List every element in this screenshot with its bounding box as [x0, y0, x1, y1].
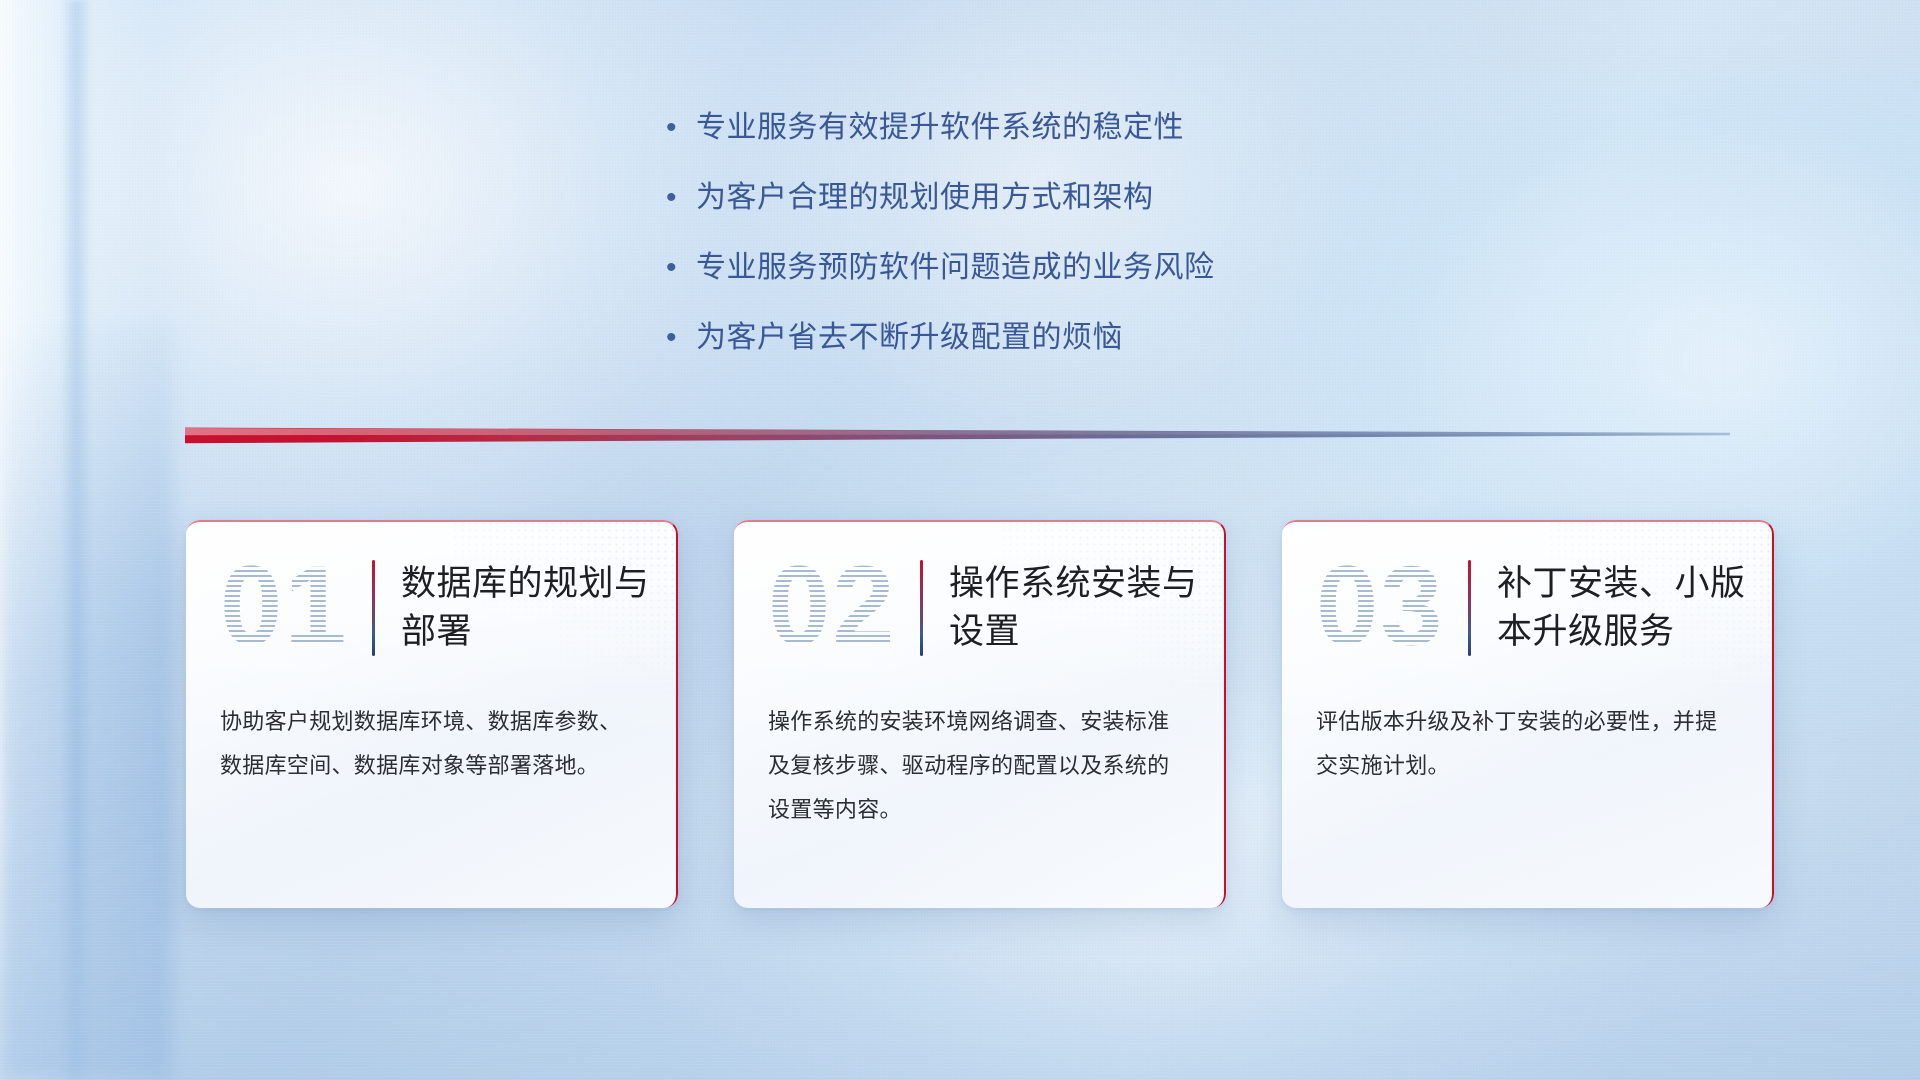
card-title: 补丁安装、小版本升级服务 — [1497, 560, 1748, 656]
bullet-dot-icon: • — [660, 108, 696, 148]
card-divider-rule — [1468, 560, 1471, 656]
card-description: 操作系统的安装环境网络调查、安装标准及复核步骤、驱动程序的配置以及系统的设置等内… — [734, 696, 1226, 832]
bullet-text: 专业服务预防软件问题造成的业务风险 — [696, 248, 1215, 288]
bullet-text: 为客户合理的规划使用方式和架构 — [696, 178, 1154, 218]
service-card-01[interactable]: 01 数据库的规划与部署 协助客户规划数据库环境、数据库参数、数据库空间、数据库… — [186, 520, 678, 908]
service-card-row: 01 数据库的规划与部署 协助客户规划数据库环境、数据库参数、数据库空间、数据库… — [186, 520, 1776, 908]
card-description: 协助客户规划数据库环境、数据库参数、数据库空间、数据库对象等部署落地。 — [186, 696, 678, 788]
card-number: 02 — [768, 550, 916, 662]
card-header: 01 数据库的规划与部署 — [186, 520, 678, 696]
card-divider-rule — [920, 560, 923, 656]
card-title: 数据库的规划与部署 — [401, 560, 652, 656]
list-item: • 专业服务预防软件问题造成的业务风险 — [660, 248, 1420, 288]
list-item: • 为客户合理的规划使用方式和架构 — [660, 178, 1420, 218]
bullet-dot-icon: • — [660, 178, 696, 218]
service-card-03[interactable]: 03 补丁安装、小版本升级服务 评估版本升级及补丁安装的必要性，并提交实施计划。 — [1282, 520, 1774, 908]
bullet-text: 专业服务有效提升软件系统的稳定性 — [696, 108, 1184, 148]
list-item: • 专业服务有效提升软件系统的稳定性 — [660, 108, 1420, 148]
bullet-dot-icon: • — [660, 318, 696, 358]
card-header: 02 操作系统安装与设置 — [734, 520, 1226, 696]
card-number: 03 — [1316, 550, 1464, 662]
service-card-02[interactable]: 02 操作系统安装与设置 操作系统的安装环境网络调查、安装标准及复核步骤、驱动程… — [734, 520, 1226, 908]
section-divider — [185, 424, 1730, 444]
card-description: 评估版本升级及补丁安装的必要性，并提交实施计划。 — [1282, 696, 1774, 788]
card-title: 操作系统安装与设置 — [949, 560, 1200, 656]
card-divider-rule — [372, 560, 375, 656]
list-item: • 为客户省去不断升级配置的烦恼 — [660, 318, 1420, 358]
card-header: 03 补丁安装、小版本升级服务 — [1282, 520, 1774, 696]
bullet-dot-icon: • — [660, 248, 696, 288]
bullet-text: 为客户省去不断升级配置的烦恼 — [696, 318, 1123, 358]
card-number: 01 — [220, 550, 368, 662]
slide-canvas: • 专业服务有效提升软件系统的稳定性 • 为客户合理的规划使用方式和架构 • 专… — [0, 0, 1920, 1080]
benefits-bullet-list: • 专业服务有效提升软件系统的稳定性 • 为客户合理的规划使用方式和架构 • 专… — [660, 108, 1420, 388]
